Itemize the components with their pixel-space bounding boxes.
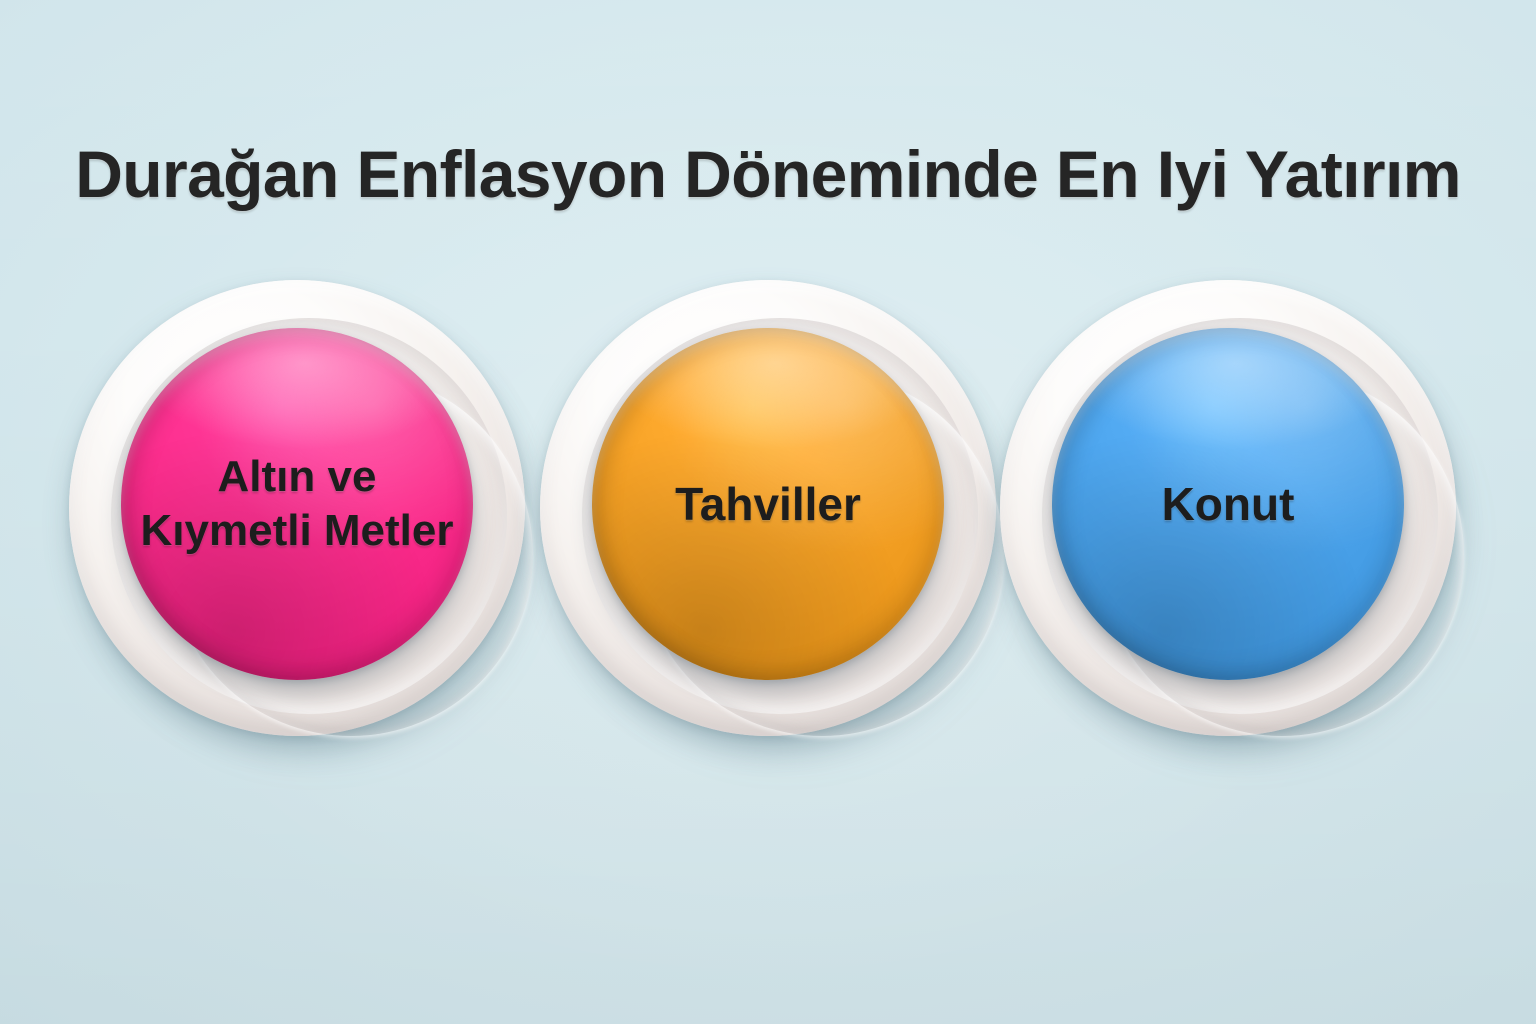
knob-cap-bonds[interactable]: Tahviller [592, 328, 944, 680]
knob-cap-housing[interactable]: Konut [1052, 328, 1404, 680]
knob-cap-gold-precious-metals[interactable]: Altın ve Kıymetli Metler [121, 328, 473, 680]
button-bonds[interactable]: Tahviller [528, 272, 1008, 752]
knob-cap-surface [121, 328, 473, 680]
button-housing[interactable]: Konut [988, 272, 1468, 752]
scene-root: Durağan Enflasyon Döneminde En Iyi Yatır… [0, 0, 1536, 1024]
knob-cap-surface [1052, 328, 1404, 680]
page-title: Durağan Enflasyon Döneminde En Iyi Yatır… [0, 136, 1536, 212]
button-gold-precious-metals[interactable]: Altın ve Kıymetli Metler [57, 272, 537, 752]
button-row: Altın ve Kıymetli Metler Tahviller [0, 272, 1536, 762]
knob-cap-surface [592, 328, 944, 680]
